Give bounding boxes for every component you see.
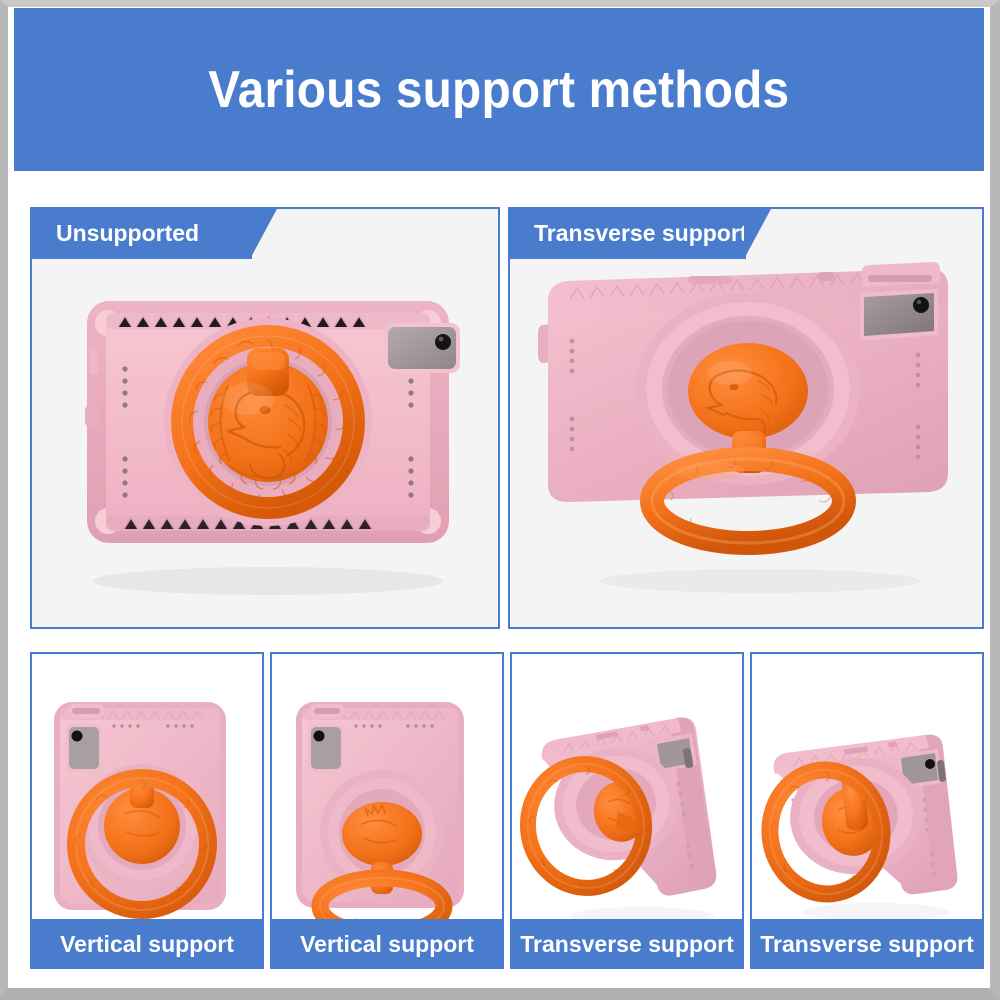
panel-label-transverse-support: Transverse support	[508, 207, 746, 259]
page-title: Various support methods	[208, 60, 789, 120]
panel-label-vertical-support-1: Vertical support	[30, 919, 264, 969]
panel-vertical-support-2[interactable]: Vertical support	[270, 652, 504, 969]
panel-transverse-support-1[interactable]: Transverse support	[510, 652, 744, 969]
panel-transverse-support-large[interactable]: Transverse support	[508, 207, 984, 629]
tablet-flat-back-illustration	[32, 209, 500, 629]
tablet-landscape-kickstand-illustration	[510, 209, 984, 629]
panel-transverse-support-2[interactable]: Transverse support	[750, 652, 984, 969]
infographic-page: Various support methods	[0, 0, 1000, 1000]
panel-label-transverse-support-1: Transverse support	[510, 919, 744, 969]
header-banner: Various support methods	[14, 8, 984, 171]
panel-label-transverse-support-2: Transverse support	[750, 919, 984, 969]
product-photo-unsupported	[32, 209, 498, 627]
panel-label-vertical-support-2: Vertical support	[270, 919, 504, 969]
product-photo-transverse	[510, 209, 982, 627]
page-inner: Various support methods	[8, 7, 990, 988]
panel-vertical-support-1[interactable]: Vertical support	[30, 652, 264, 969]
panel-label-unsupported: Unsupported	[30, 207, 252, 259]
panel-unsupported[interactable]: Unsupported	[30, 207, 500, 629]
